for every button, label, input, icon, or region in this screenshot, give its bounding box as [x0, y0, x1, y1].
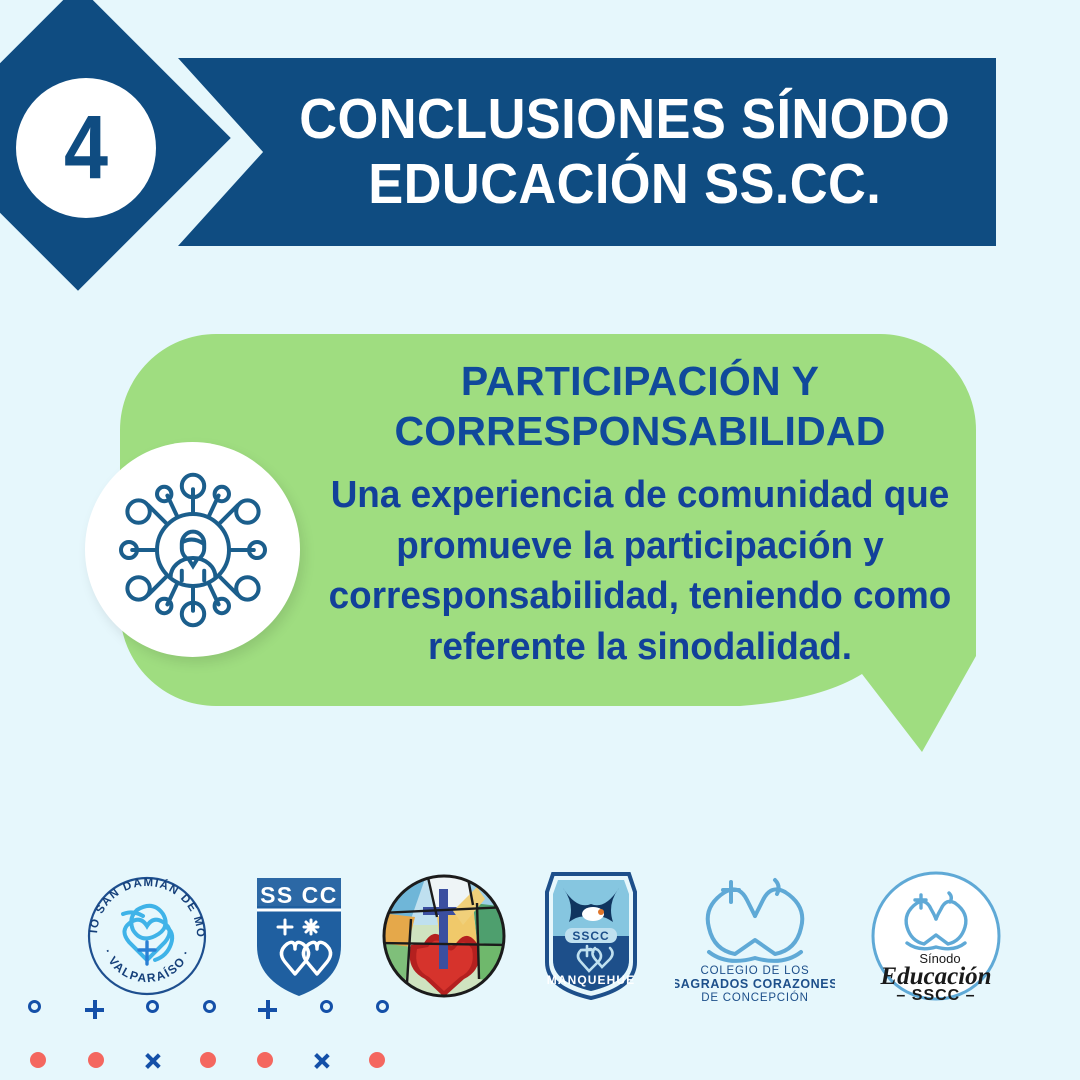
step-number-label: 4: [64, 103, 108, 193]
logo-sscc-shield: SS CC: [251, 872, 347, 1000]
dot-marker: [200, 1052, 216, 1068]
plus-marker: [258, 1000, 277, 1019]
decor-row-bottom: [0, 1052, 1080, 1080]
circle-outline-marker: [320, 1000, 333, 1013]
decor-top-circle-outline-6: [376, 1000, 389, 1013]
decor-bottom-dot-6: [369, 1052, 385, 1068]
logo5-line2: SAGRADOS CORAZONES: [675, 977, 835, 991]
dot-marker: [257, 1052, 273, 1068]
decor-bottom-cross-2: [144, 1052, 162, 1070]
step-number-badge: 4: [16, 78, 156, 218]
svg-text:SS CC: SS CC: [260, 882, 338, 908]
dot-marker: [88, 1052, 104, 1068]
title-line-2: EDUCACIÓN SS.CC.: [369, 152, 882, 217]
circle-outline-marker: [203, 1000, 216, 1013]
bubble-text-block: PARTICIPACIÓN Y CORRESPONSABILIDAD Una e…: [318, 356, 962, 672]
svg-text:COLEGIO SAN DAMIÁN DE MOLOKAI: COLEGIO SAN DAMIÁN DE MOLOKAI: [77, 866, 206, 939]
decor-bottom-dot-1: [88, 1052, 104, 1068]
cross-marker: [313, 1052, 331, 1070]
decor-top-circle-outline-3: [203, 1000, 216, 1013]
decor-bottom-dot-3: [200, 1052, 216, 1068]
partner-logos-row: COLEGIO SAN DAMIÁN DE MOLOKAI · VALPARAÍ…: [0, 862, 1080, 1010]
decor-top-plus-1: [85, 1000, 104, 1019]
header-zone: 4 CONCLUSIONES SÍNODO EDUCACIÓN SS.CC.: [0, 0, 1080, 310]
logo-sinodo-educacion-sscc: Sínodo Educación – SSCC –: [869, 869, 1003, 1003]
logo-manquehue-sscc: SSCC MANQUEHUE: [541, 870, 641, 1002]
plus-marker: [85, 1000, 104, 1019]
content-bubble-wrapper: PARTICIPACIÓN Y CORRESPONSABILIDAD Una e…: [120, 334, 976, 752]
community-network-icon: [85, 442, 300, 657]
dot-marker: [30, 1052, 46, 1068]
decor-top-plus-4: [258, 1000, 277, 1019]
logo6-line2: Educación: [879, 963, 991, 990]
title-banner: CONCLUSIONES SÍNODO EDUCACIÓN SS.CC.: [178, 58, 996, 246]
logo-colegio-sagrados-corazones-concepcion: COLEGIO DE LOS SAGRADOS CORAZONES DE CON…: [675, 868, 835, 1004]
decor-row-top: [0, 1000, 1080, 1040]
decor-top-circle-outline-0: [28, 1000, 41, 1013]
bubble-title: PARTICIPACIÓN Y CORRESPONSABILIDAD: [318, 356, 962, 456]
bubble-body-text: Una experiencia de comunidad que promuev…: [328, 470, 953, 672]
poster-canvas: 4 CONCLUSIONES SÍNODO EDUCACIÓN SS.CC.: [0, 0, 1080, 1080]
decor-bottom-dot-0: [30, 1052, 46, 1068]
svg-text:MANQUEHUE: MANQUEHUE: [547, 973, 636, 987]
logo-colegio-san-damian-de-molokai: COLEGIO SAN DAMIÁN DE MOLOKAI · VALPARAÍ…: [77, 866, 217, 1006]
decor-top-circle-outline-2: [146, 1000, 159, 1013]
decor-bottom-cross-5: [313, 1052, 331, 1070]
cross-marker: [144, 1052, 162, 1070]
circle-outline-marker: [376, 1000, 389, 1013]
circle-outline-marker: [146, 1000, 159, 1013]
title-line-1: CONCLUSIONES SÍNODO: [300, 87, 951, 152]
dot-marker: [369, 1052, 385, 1068]
svg-text:SSCC: SSCC: [572, 929, 609, 943]
logo-stained-glass-sacred-hearts: [381, 873, 507, 999]
circle-outline-marker: [28, 1000, 41, 1013]
logo5-line1: COLEGIO DE LOS: [701, 965, 810, 977]
decor-bottom-dot-4: [257, 1052, 273, 1068]
decor-top-circle-outline-5: [320, 1000, 333, 1013]
